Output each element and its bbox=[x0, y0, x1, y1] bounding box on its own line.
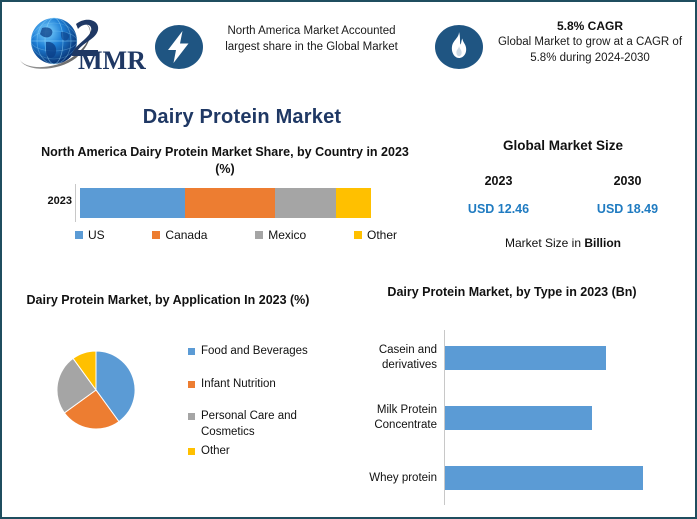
pie-legend-label-personal-care-and-cosmetics: Personal Care and Cosmetics bbox=[201, 409, 343, 440]
market-size-unit-bold: Billion bbox=[584, 236, 621, 250]
pie-legend-swatch-food-and-beverages bbox=[188, 348, 195, 355]
mmr-logo: MMR bbox=[16, 12, 146, 78]
pie-legend-label-infant-nutrition: Infant Nutrition bbox=[201, 377, 276, 393]
pie-legend-item-food-and-beverages: Food and Beverages bbox=[188, 344, 343, 360]
kpi-cagr-title: 5.8% CAGR bbox=[494, 18, 686, 34]
pie-legend-swatch-infant-nutrition bbox=[188, 381, 195, 388]
legend-label-mexico: Mexico bbox=[268, 228, 306, 242]
type-chart-title: Dairy Protein Market, by Type in 2023 (B… bbox=[347, 284, 677, 302]
market-size-unit-prefix: Market Size in bbox=[505, 236, 584, 250]
type-chart-plot: Casein and derivatives Milk Protein Conc… bbox=[347, 330, 692, 505]
header-bar: MMR North America Market Accounted large… bbox=[2, 2, 697, 88]
infographic-canvas: MMR North America Market Accounted large… bbox=[0, 0, 697, 519]
stacked-segment-us bbox=[80, 188, 185, 218]
market-size-column-2030: 2030 USD 18.49 bbox=[563, 174, 692, 216]
stacked-bar bbox=[80, 188, 371, 218]
global-market-size-columns: 2023 USD 12.46 2030 USD 18.49 bbox=[434, 174, 692, 216]
market-size-column-2023: 2023 USD 12.46 bbox=[434, 174, 563, 216]
type-bar-casein bbox=[445, 346, 606, 370]
pie-legend-item-infant-nutrition: Infant Nutrition bbox=[188, 377, 343, 393]
stacked-segment-mexico bbox=[275, 188, 336, 218]
pie-legend-item-personal-care-and-cosmetics: Personal Care and Cosmetics bbox=[188, 409, 343, 440]
type-label-milk-protein-concentrate: Milk Protein Concentrate bbox=[347, 398, 437, 438]
type-bar-chart: Dairy Protein Market, by Type in 2023 (B… bbox=[347, 284, 692, 512]
market-size-value-2023: USD 12.46 bbox=[434, 202, 563, 216]
legend-item-canada: Canada bbox=[152, 228, 207, 242]
globe-icon: MMR bbox=[16, 12, 146, 78]
page-title: Dairy Protein Market bbox=[2, 106, 482, 129]
legend-swatch-us bbox=[75, 231, 83, 239]
kpi-cagr-text: Global Market to grow at a CAGR of 5.8% … bbox=[498, 36, 682, 64]
legend-swatch-other bbox=[354, 231, 362, 239]
type-bar-milk-protein-concentrate bbox=[445, 406, 592, 430]
pie-chart-legend: Food and Beverages Infant Nutrition Pers… bbox=[188, 344, 343, 477]
pie-chart-graphic bbox=[56, 350, 136, 430]
market-size-year-2023: 2023 bbox=[434, 174, 563, 188]
pie-legend-swatch-personal-care-and-cosmetics bbox=[188, 413, 195, 420]
legend-label-canada: Canada bbox=[165, 228, 207, 242]
type-row-whey-protein: Whey protein bbox=[347, 458, 692, 498]
market-size-year-2030: 2030 bbox=[563, 174, 692, 188]
market-size-value-2030: USD 18.49 bbox=[563, 202, 692, 216]
stacked-segment-other bbox=[336, 188, 371, 218]
legend-item-us: US bbox=[75, 228, 105, 242]
north-america-share-chart: North America Dairy Protein Market Share… bbox=[30, 144, 420, 254]
legend-label-other: Other bbox=[367, 228, 397, 242]
market-size-unit-note: Market Size in Billion bbox=[434, 236, 692, 250]
pie-legend-swatch-other bbox=[188, 448, 195, 455]
kpi-cagr: 5.8% CAGR Global Market to grow at a CAG… bbox=[494, 18, 686, 66]
legend-swatch-mexico bbox=[255, 231, 263, 239]
logo-wordmark: MMR bbox=[78, 46, 146, 75]
stacked-chart-title: North America Dairy Protein Market Share… bbox=[30, 144, 420, 178]
type-bar-whey-protein bbox=[445, 466, 643, 490]
legend-item-other: Other bbox=[354, 228, 397, 242]
pie-chart-title: Dairy Protein Market, by Application In … bbox=[18, 292, 318, 310]
pie-legend-item-other: Other bbox=[188, 444, 343, 460]
legend-item-mexico: Mexico bbox=[255, 228, 306, 242]
flame-icon bbox=[434, 24, 484, 70]
global-market-size-title: Global Market Size bbox=[434, 138, 692, 153]
stacked-segment-canada bbox=[185, 188, 275, 218]
pie-legend-label-food-and-beverages: Food and Beverages bbox=[201, 344, 308, 360]
type-label-whey-protein: Whey protein bbox=[347, 458, 437, 498]
kpi-north-america-text: North America Market Accounted largest s… bbox=[225, 25, 398, 53]
lightning-bolt-icon bbox=[154, 24, 204, 70]
application-pie-chart: Dairy Protein Market, by Application In … bbox=[18, 292, 348, 512]
legend-label-us: US bbox=[88, 228, 105, 242]
global-market-size-panel: Global Market Size 2023 USD 12.46 2030 U… bbox=[434, 138, 692, 258]
type-label-casein: Casein and derivatives bbox=[347, 338, 437, 378]
stacked-chart-legend: US Canada Mexico Other bbox=[75, 228, 405, 242]
stacked-chart-plot: 2023 bbox=[30, 184, 420, 222]
type-row-milk-protein-concentrate: Milk Protein Concentrate bbox=[347, 398, 692, 438]
pie-legend-label-other: Other bbox=[201, 444, 230, 460]
stacked-axis-line bbox=[75, 184, 76, 222]
kpi-north-america: North America Market Accounted largest s… bbox=[215, 24, 408, 55]
type-row-casein: Casein and derivatives bbox=[347, 338, 692, 378]
legend-swatch-canada bbox=[152, 231, 160, 239]
stacked-category-label: 2023 bbox=[30, 195, 72, 207]
